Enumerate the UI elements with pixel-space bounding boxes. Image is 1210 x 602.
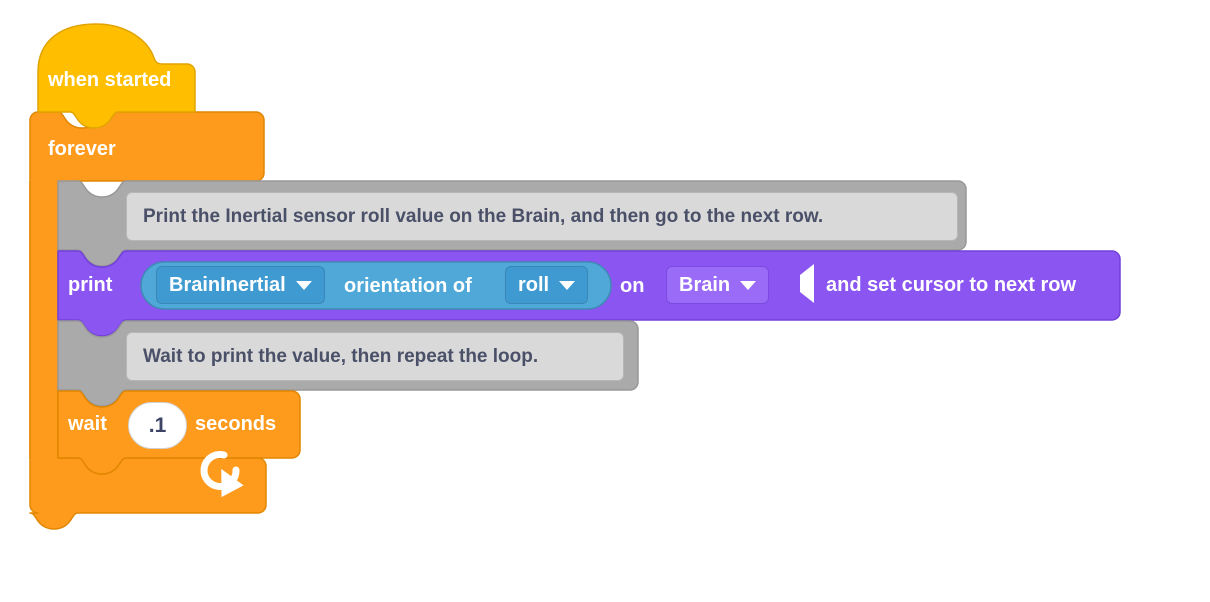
comment-1-text: Print the Inertial sensor roll value on … [143, 206, 823, 228]
cursor-next-row-label: and set cursor to next row [826, 275, 1076, 295]
seconds-label: seconds [195, 414, 276, 434]
device-dropdown[interactable]: BrainInertial [156, 266, 325, 304]
forever-label: forever [48, 139, 116, 159]
triangle-left-icon [800, 275, 814, 293]
wait-label: wait [68, 414, 107, 434]
axis-dropdown[interactable]: roll [505, 266, 588, 304]
print-label: print [68, 275, 112, 295]
target-dropdown-label: Brain [679, 274, 730, 297]
orientation-of-label: orientation of [344, 276, 472, 296]
chevron-down-icon [740, 281, 756, 290]
device-dropdown-label: BrainInertial [169, 274, 286, 297]
on-label: on [620, 276, 644, 296]
chevron-down-icon [296, 281, 312, 290]
axis-dropdown-label: roll [518, 274, 549, 297]
block-workspace[interactable]: when started forever Print the Inertial … [0, 0, 1210, 602]
chevron-down-icon [559, 281, 575, 290]
target-dropdown[interactable]: Brain [666, 266, 769, 304]
when-started-label: when started [48, 70, 171, 90]
wait-seconds-input[interactable]: .1 [128, 402, 187, 449]
comment-2-box[interactable]: Wait to print the value, then repeat the… [126, 332, 624, 381]
comment-2-text: Wait to print the value, then repeat the… [143, 346, 538, 368]
comment-1-box[interactable]: Print the Inertial sensor roll value on … [126, 192, 958, 241]
